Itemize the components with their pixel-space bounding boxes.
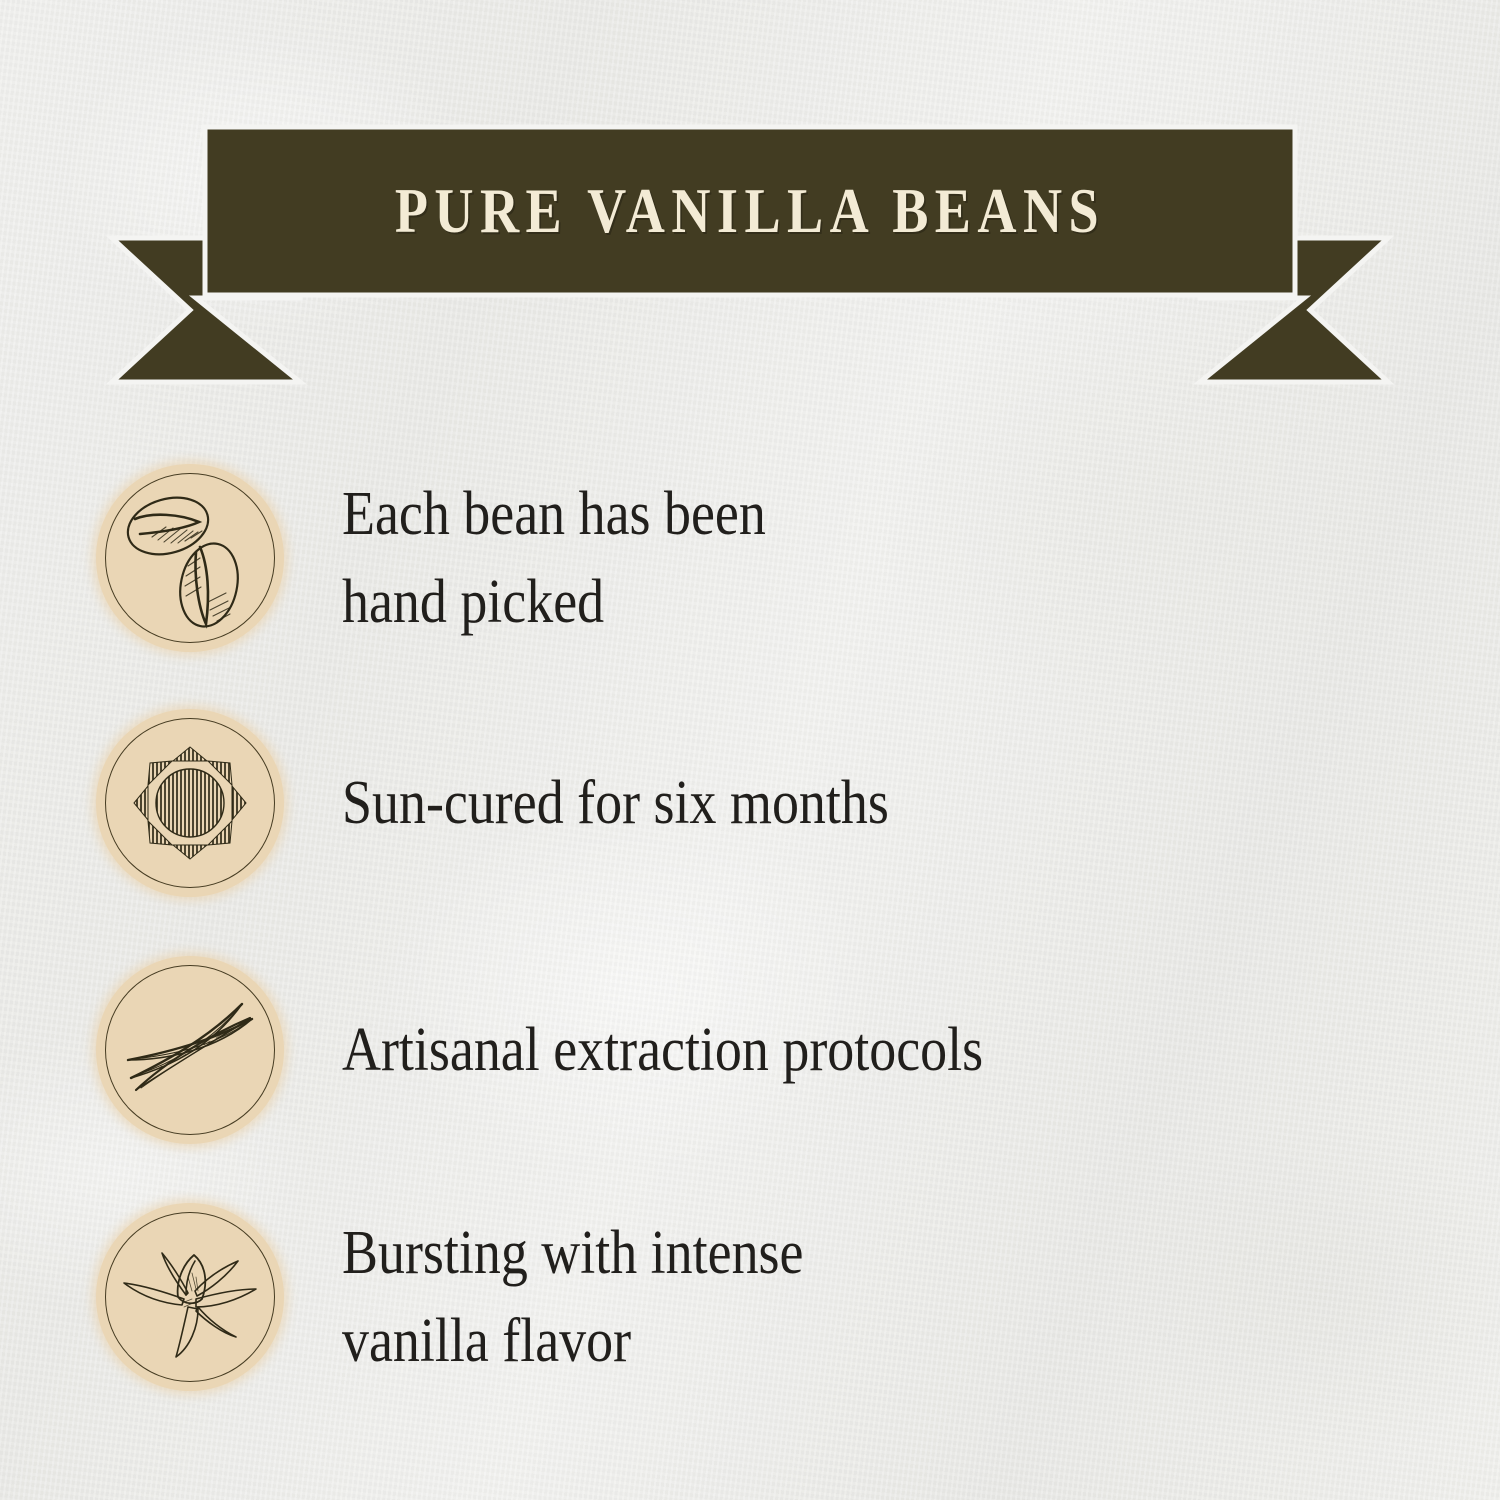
page-title: PURE VANILLA BEANS [281, 127, 1218, 295]
banner: PURE VANILLA BEANS [0, 0, 1500, 420]
feature-row: Sun-cured for six months [96, 709, 1476, 897]
sun-icon [96, 709, 284, 897]
feature-label: Bursting with intense vanilla flavor [342, 1209, 803, 1385]
feature-label: Artisanal extraction protocols [342, 1006, 983, 1094]
feature-label: Sun-cured for six months [342, 759, 889, 847]
vanilla-beans-icon [96, 464, 284, 652]
feature-label: Each bean has been hand picked [342, 470, 766, 646]
vanilla-beans-glyph [96, 464, 284, 652]
vanilla-flower-icon [96, 1203, 284, 1391]
vanilla-flower-glyph [96, 1203, 284, 1391]
feature-row: Bursting with intense vanilla flavor [96, 1203, 1476, 1391]
product-feature-card: PURE VANILLA BEANS [0, 0, 1500, 1500]
vanilla-pods-glyph [96, 956, 284, 1144]
feature-row: Each bean has been hand picked [96, 464, 1476, 652]
sun-glyph [96, 709, 284, 897]
vanilla-pods-icon [96, 956, 284, 1144]
feature-row: Artisanal extraction protocols [96, 956, 1476, 1144]
